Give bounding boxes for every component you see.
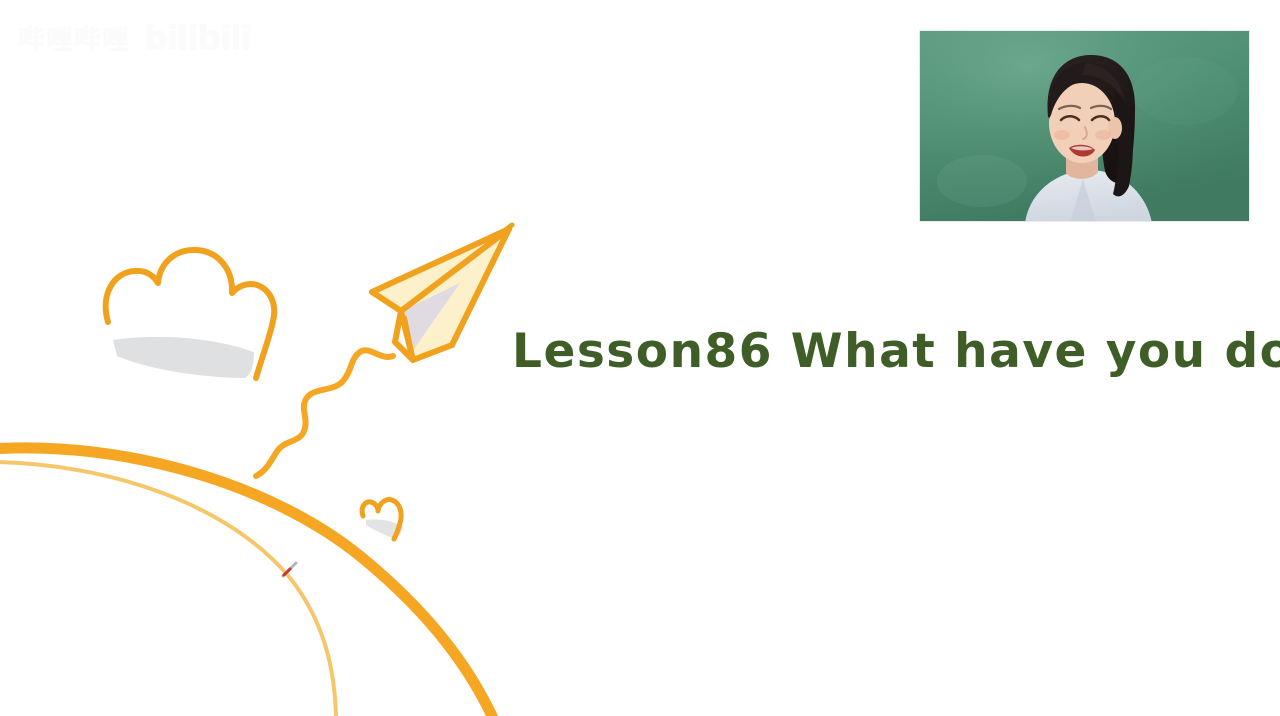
cloud-small-icon (362, 500, 401, 539)
airplane-outline (372, 229, 509, 360)
cloud-large-icon (106, 250, 274, 378)
cloud-large-shadow (113, 337, 254, 378)
slide-canvas: 哔哩哔哩 bilibili (0, 0, 1280, 716)
cloud-small-shadow (366, 519, 403, 539)
airplane-tail-fin (396, 310, 414, 359)
arc-thick-icon (0, 448, 492, 716)
bilibili-watermark: 哔哩哔哩 bilibili (18, 18, 251, 57)
airplane-wing-left (372, 229, 507, 309)
airplane-body (404, 229, 507, 360)
watermark-chinese-text: 哔哩哔哩 (18, 18, 130, 57)
airplane-tip-flick (500, 225, 512, 234)
webcam-image (920, 31, 1249, 221)
lesson-title: Lesson86 What have you done? (512, 325, 1252, 379)
watermark-brand-text: bilibili (144, 18, 251, 57)
airplane-wing-top (404, 229, 507, 357)
flight-trail-icon (256, 350, 393, 476)
webcam-video-frame (920, 31, 1249, 221)
teacher-webcam[interactable] (919, 30, 1250, 222)
arrow-tick-icon (283, 563, 296, 576)
arc-thin-icon (0, 462, 336, 716)
airplane-fold-shadow (404, 283, 460, 352)
